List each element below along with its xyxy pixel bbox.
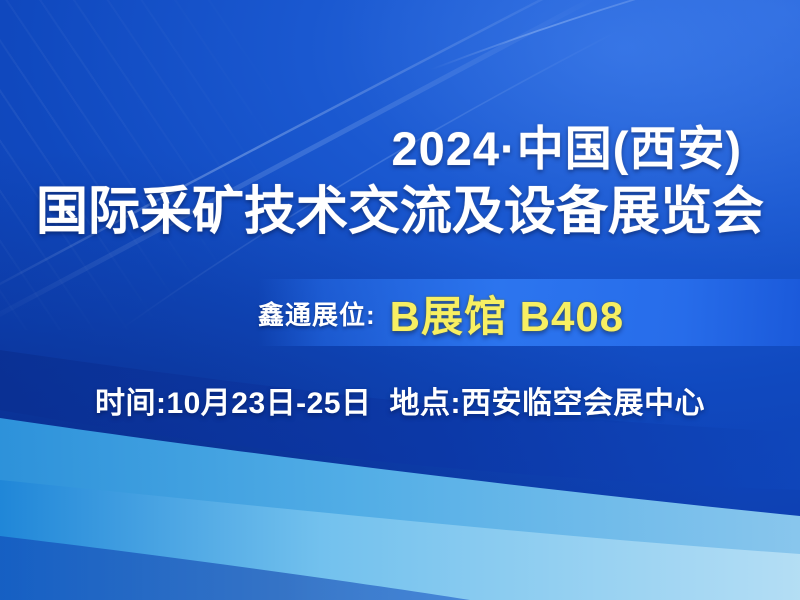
event-info-row: 时间:10月23日-25日地点:西安临空会展中心 xyxy=(0,378,800,422)
booth-label: 鑫通展位: xyxy=(258,295,376,332)
event-venue: 地点:西安临空会展中心 xyxy=(390,387,706,420)
title-line-1: 2024·中国(西安) xyxy=(391,122,742,176)
booth-number: B展馆 B408 xyxy=(390,283,624,344)
exhibition-poster: 2024·中国(西安) 国际采矿技术交流及设备展览会 鑫通展位: B展馆 B40… xyxy=(0,0,800,600)
event-date: 时间:10月23日-25日 xyxy=(95,387,372,420)
title-line-2: 国际采矿技术交流及设备展览会 xyxy=(20,182,780,242)
booth-info-row: 鑫通展位: B展馆 B408 xyxy=(258,288,778,338)
